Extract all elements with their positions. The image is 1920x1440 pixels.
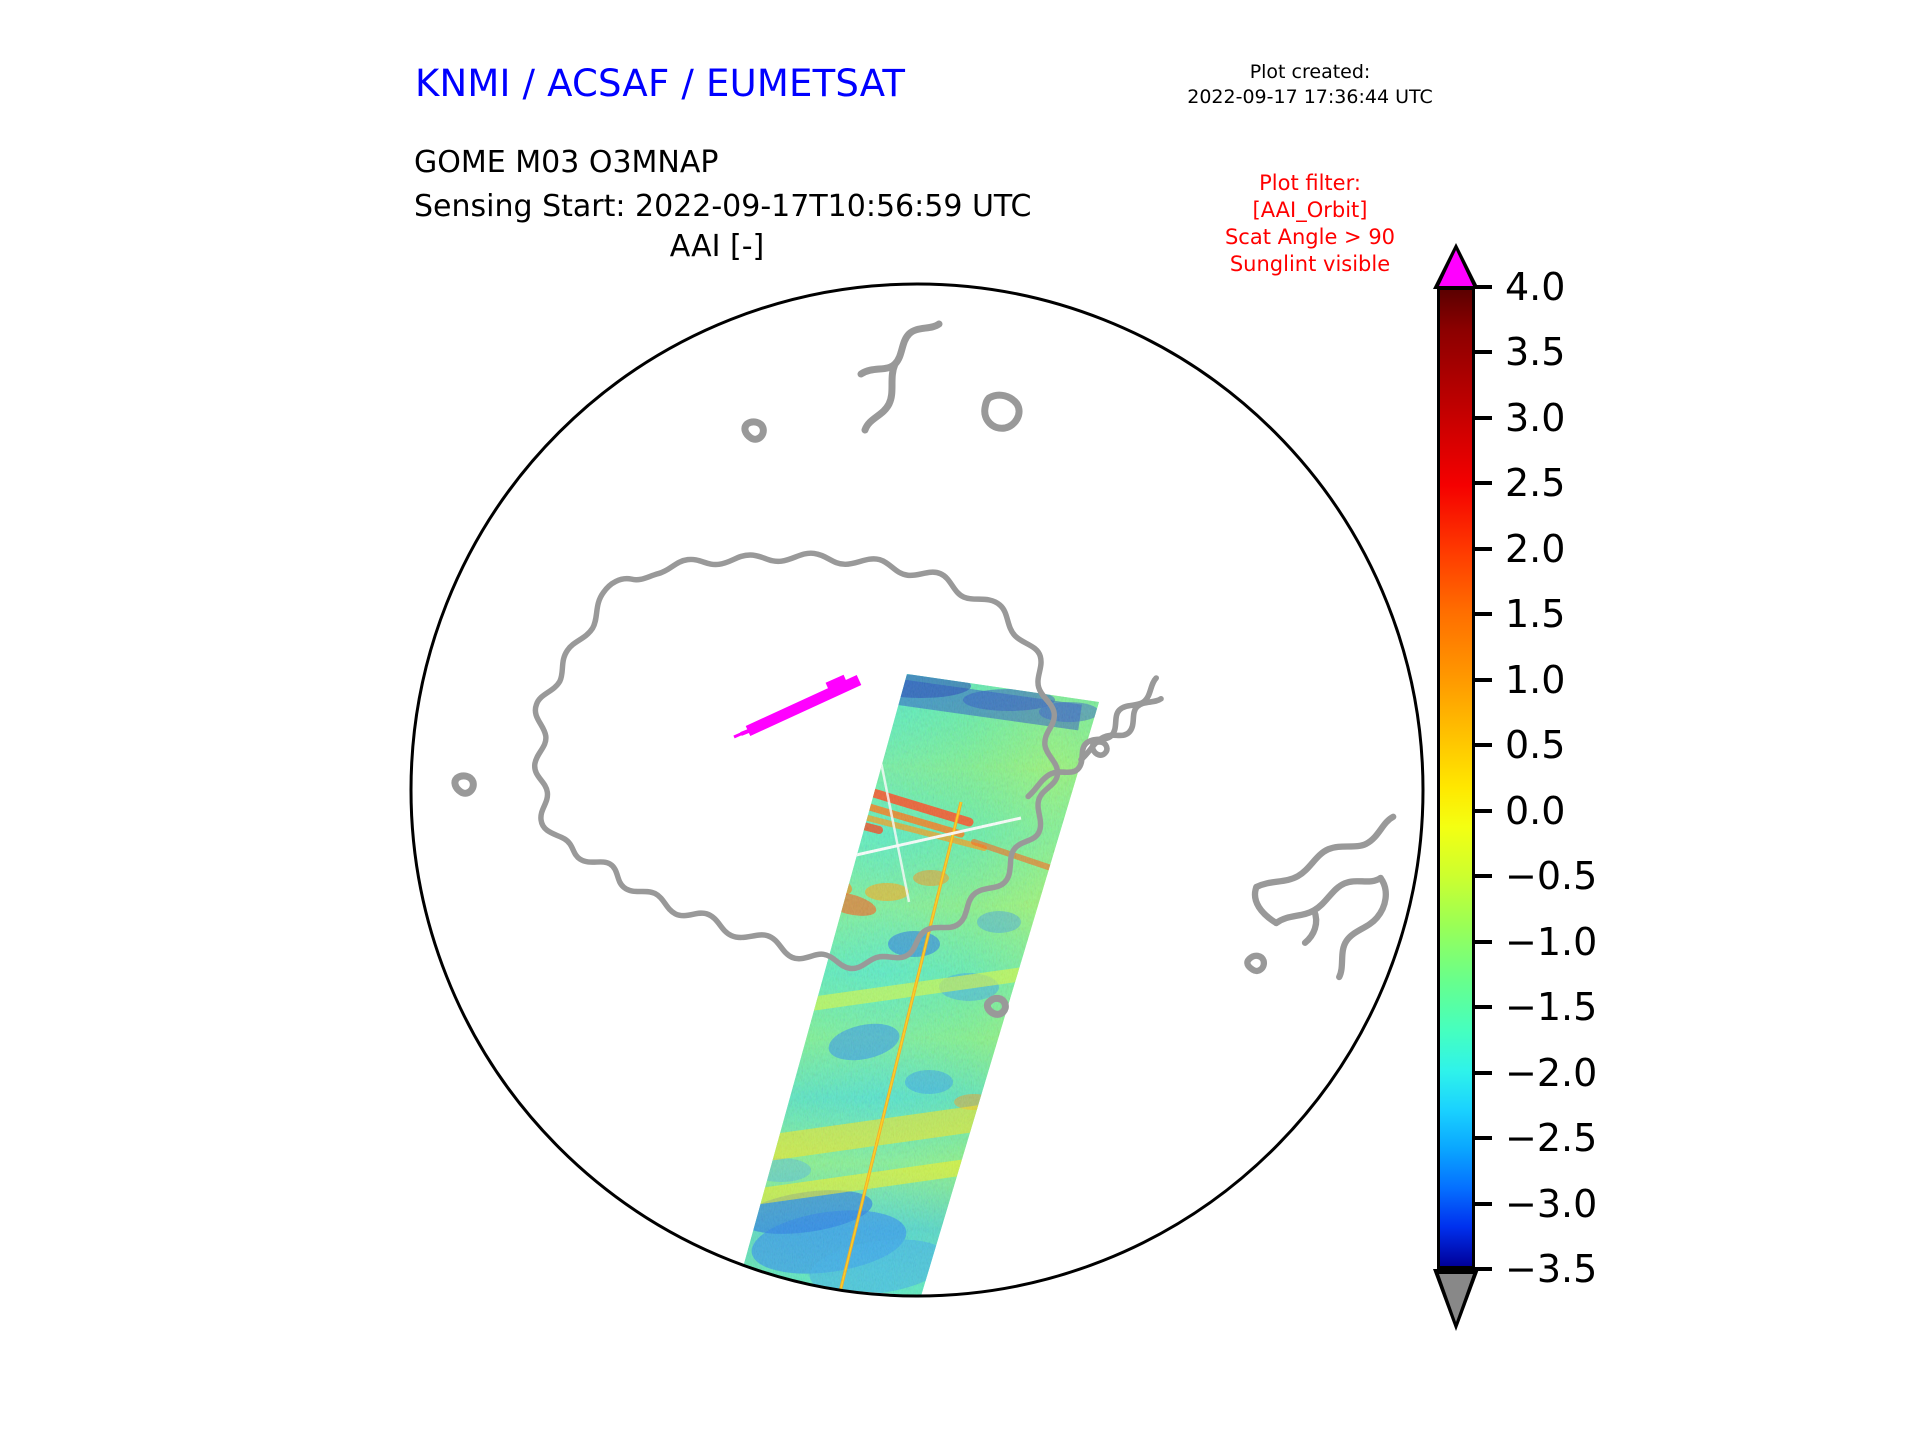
colorbar-tick-mark <box>1475 1005 1492 1009</box>
colorbar-tick-mark <box>1475 940 1492 944</box>
colorbar-tick-mark <box>1475 1071 1492 1075</box>
colorbar-tick-label: 0.5 <box>1505 721 1565 769</box>
colorbar-tick-mark <box>1475 350 1492 354</box>
colorbar-tick-mark <box>1475 1136 1492 1140</box>
colorbar-tick-label: −1.0 <box>1505 918 1597 966</box>
figure-canvas: KNMI / ACSAF / EUMETSAT Plot created: 20… <box>0 0 1920 1440</box>
colorbar-tick-label: −2.0 <box>1505 1049 1597 1097</box>
colorbar-tick-mark <box>1475 1267 1492 1271</box>
polar-map[interactable] <box>409 282 1425 1298</box>
colorbar-tick-mark <box>1475 416 1492 420</box>
plot-created-timestamp: 2022-09-17 17:36:44 UTC <box>1160 85 1460 110</box>
colorbar-tick-label: 1.0 <box>1505 656 1565 704</box>
colorbar-tick-label: 1.5 <box>1505 590 1565 638</box>
colorbar-over-arrow <box>1433 243 1479 289</box>
colorbar-tick-mark <box>1475 481 1492 485</box>
colorbar[interactable]: 4.03.53.02.52.01.51.00.50.0−0.5−1.0−1.5−… <box>1437 287 1475 1269</box>
colorbar-tick-label: 4.0 <box>1505 263 1565 311</box>
colorbar-tick-label: 2.0 <box>1505 525 1565 573</box>
product-name: GOME M03 O3MNAP <box>414 141 718 185</box>
colorbar-tick-mark <box>1475 874 1492 878</box>
plot-filter-label: Plot filter: <box>1160 170 1460 197</box>
plot-filter-block: Plot filter: [AAI_Orbit] Scat Angle > 90… <box>1160 170 1460 278</box>
plot-created-block: Plot created: 2022-09-17 17:36:44 UTC <box>1160 60 1460 110</box>
plot-filter-name: [AAI_Orbit] <box>1160 197 1460 224</box>
colorbar-gradient <box>1437 287 1475 1269</box>
sensing-start-text: Sensing Start: 2022-09-17T10:56:59 UTC <box>414 185 1031 229</box>
colorbar-tick-label: 0.0 <box>1505 787 1565 835</box>
colorbar-tick-mark <box>1475 743 1492 747</box>
plot-created-label: Plot created: <box>1160 60 1460 85</box>
colorbar-tick-mark <box>1475 809 1492 813</box>
colorbar-tick-mark <box>1475 678 1492 682</box>
organisation-title: KNMI / ACSAF / EUMETSAT <box>415 62 905 105</box>
colorbar-tick-list: 4.03.53.02.52.01.51.00.50.0−0.5−1.0−1.5−… <box>1475 287 1735 1269</box>
colorbar-tick-mark <box>1475 547 1492 551</box>
colorbar-tick-label: 2.5 <box>1505 459 1565 507</box>
colorbar-tick-label: 3.0 <box>1505 394 1565 442</box>
colorbar-tick-label: −2.5 <box>1505 1114 1597 1162</box>
colorbar-under-arrow <box>1433 1269 1479 1331</box>
colorbar-tick-mark <box>1475 612 1492 616</box>
colorbar-tick-label: −0.5 <box>1505 852 1597 900</box>
colorbar-tick-mark <box>1475 1202 1492 1206</box>
colorbar-tick-label: −3.5 <box>1505 1245 1597 1293</box>
plot-filter-condition-sunglint: Sunglint visible <box>1160 251 1460 278</box>
plot-filter-condition-scat-angle: Scat Angle > 90 <box>1160 224 1460 251</box>
colorbar-tick-label: −3.0 <box>1505 1180 1597 1228</box>
colorbar-tick-mark <box>1475 285 1492 289</box>
colorbar-tick-label: 3.5 <box>1505 328 1565 376</box>
colorbar-tick-label: −1.5 <box>1505 983 1597 1031</box>
